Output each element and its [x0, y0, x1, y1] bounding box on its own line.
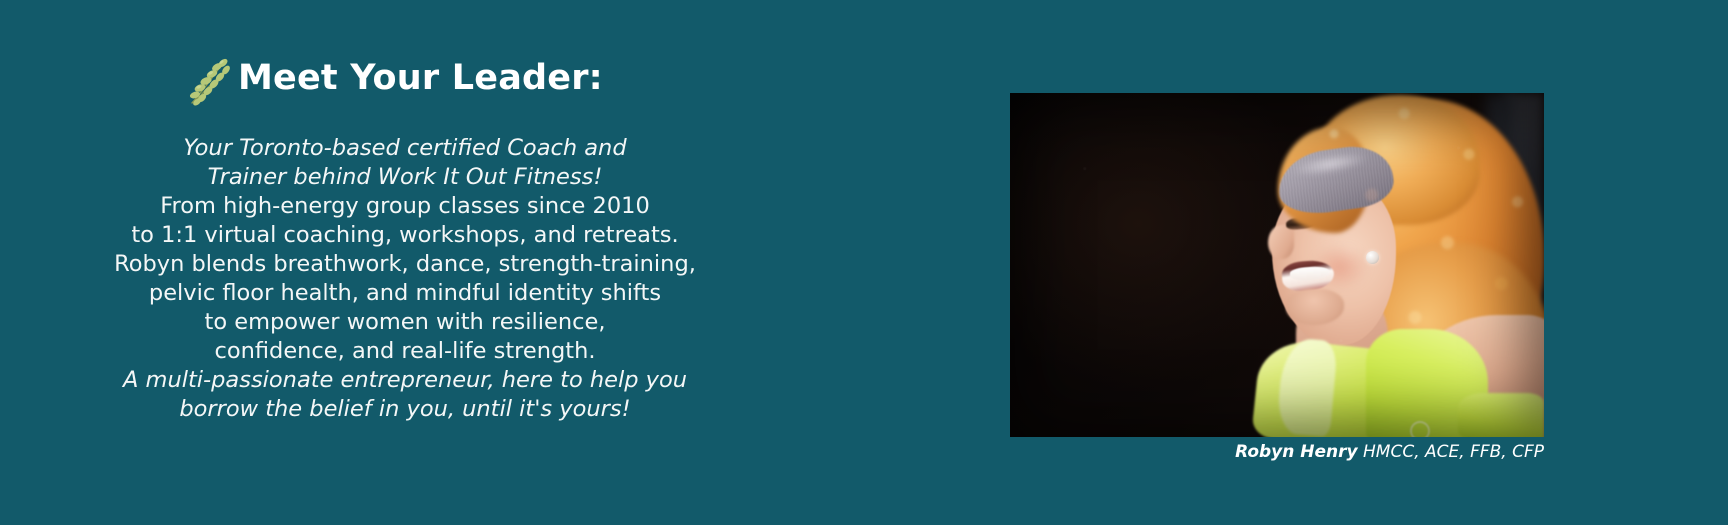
bio-line: pelvic floor health, and mindful identit…: [60, 279, 750, 308]
bio-line: borrow the belief in you, until it's you…: [60, 395, 750, 424]
leader-photo: [1010, 93, 1544, 437]
bio-line: to empower women with resilience,: [60, 308, 750, 337]
bio-line: to 1:1 virtual coaching, workshops, and …: [60, 221, 750, 250]
page-title: Meet Your Leader:: [238, 59, 603, 98]
leader-name: Robyn Henry: [1235, 442, 1358, 462]
bio-paragraph: Your Toronto-based certified Coach and T…: [60, 134, 750, 424]
meet-your-leader-banner: Meet Your Leader: Your Toronto-based cer…: [0, 0, 1728, 525]
heading-row: Meet Your Leader:: [186, 50, 603, 106]
bio-line: From high-energy group classes since 201…: [60, 192, 750, 221]
bio-line: A multi-passionate entrepreneur, here to…: [60, 366, 750, 395]
leader-credentials: HMCC, ACE, FFB, CFP: [1363, 442, 1544, 462]
photo-credit: Robyn Henry HMCC, ACE, FFB, CFP: [1010, 441, 1544, 463]
bio-line: Robyn blends breathwork, dance, strength…: [60, 250, 750, 279]
bio-line: confidence, and real-life strength.: [60, 337, 750, 366]
herb-leaf-icon: [186, 54, 232, 106]
hivis-vest-side: [1458, 393, 1544, 437]
vest-logo-icon: [1410, 421, 1430, 437]
leader-photo-wrapper: [1010, 93, 1544, 437]
bio-line: Trainer behind Work It Out Fitness!: [60, 163, 750, 192]
bio-line: Your Toronto-based certified Coach and: [60, 134, 750, 163]
bio-column: Meet Your Leader: Your Toronto-based cer…: [0, 0, 810, 525]
